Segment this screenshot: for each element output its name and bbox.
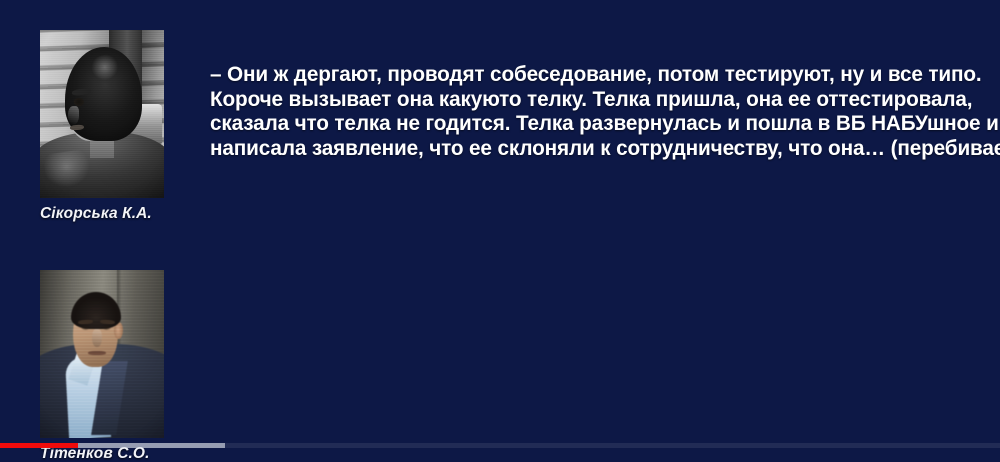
video-frame: Сікорська К.А.: [0, 0, 1000, 462]
subtitle-line: написала заявление, что ее склоняли к со…: [210, 136, 961, 161]
speaker-photo-sikorska: [40, 30, 164, 198]
speaker-caption-sikorska: Сікорська К.А.: [40, 205, 190, 223]
speaker-photo-titenkov: [40, 270, 164, 438]
video-progress-bar[interactable]: [0, 443, 1000, 448]
subtitle-quote-block: – Они ж дергают, проводят собеседование,…: [210, 62, 988, 160]
speaker-block-sikorska: Сікорська К.А.: [40, 30, 164, 223]
speaker-block-titenkov: Тітенков С.О.: [40, 270, 164, 462]
portrait-man-color-illustration: [40, 270, 164, 438]
subtitle-line: – Они ж дергают, проводят собеседование,…: [210, 62, 961, 87]
portrait-woman-bw-illustration: [40, 30, 164, 198]
subtitle-line: сказала что телка не годится. Телка разв…: [210, 111, 961, 136]
progress-played: [0, 443, 78, 448]
subtitle-line: Короче вызывает она какуюто телку. Телка…: [210, 87, 961, 112]
